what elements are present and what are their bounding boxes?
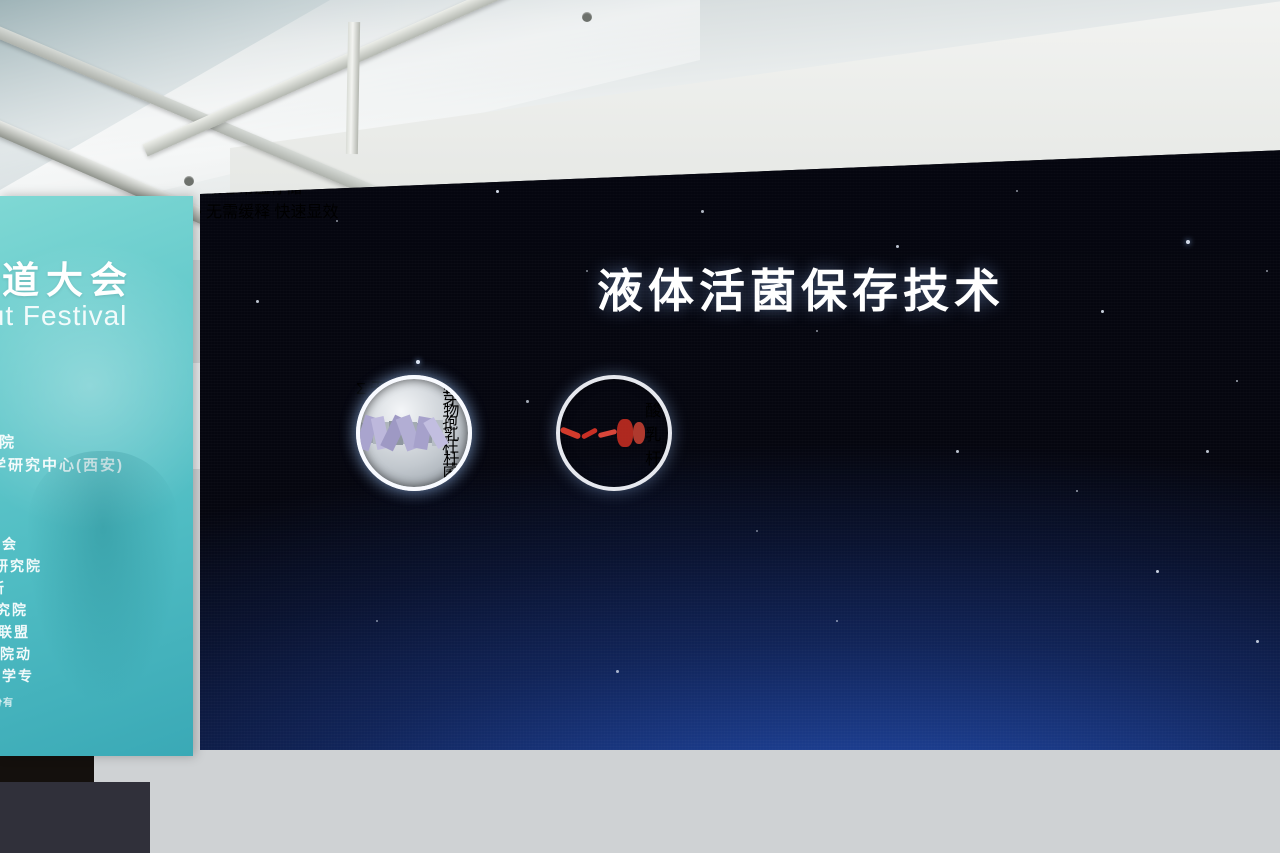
beam-bolt [184, 176, 194, 186]
audience-shoulders [0, 782, 150, 853]
sigma-icon: Σ [356, 381, 366, 398]
banner-org-line-3: 分会 [0, 534, 18, 554]
slide-title: 液体活菌保存技术 [541, 255, 1061, 321]
banner-speaker-shadow [28, 451, 178, 701]
banner-title-cn: 肠道大会 [0, 250, 193, 304]
conference-photo-scene: 肠道大会 Gut Festival 医院 医学研究中心(西安) 分会 学研究院 … [0, 0, 1280, 853]
banner-title-en: Gut Festival [0, 300, 193, 332]
banner-org-line-7: 合联盟 [0, 622, 30, 642]
banner-org-line-1: 医院 [0, 431, 16, 452]
beam-bolt [582, 12, 592, 22]
banner-org-line-10: 份有 [0, 694, 14, 709]
petri-dish-acidophilus: 嗜酸乳 杆菌 [556, 375, 672, 491]
slide-content: 液体活菌保存技术 植物乳 杆菌 [196, 150, 1280, 750]
petri-dish-bacillus: 芽孢杆 菌 [356, 375, 472, 491]
petri-dish-label: 芽孢杆 菌 [442, 385, 468, 481]
led-presentation-screen: 液体活菌保存技术 植物乳 杆菌 [196, 150, 1280, 750]
bacteria-equation-row: 植物乳 杆菌 嗜酸乳 杆菌 [356, 375, 1266, 495]
banner-org-line-5: 所 [0, 578, 6, 598]
bullet-text: 无需缓释 快速显效 [206, 204, 338, 221]
result-text-group: Σ 无限的可能 [356, 375, 1266, 399]
banner-org-line-6: 研究院 [0, 600, 28, 620]
bullet-item: • 无需缓释 快速显效 [196, 198, 1280, 222]
tent-post [346, 22, 360, 154]
